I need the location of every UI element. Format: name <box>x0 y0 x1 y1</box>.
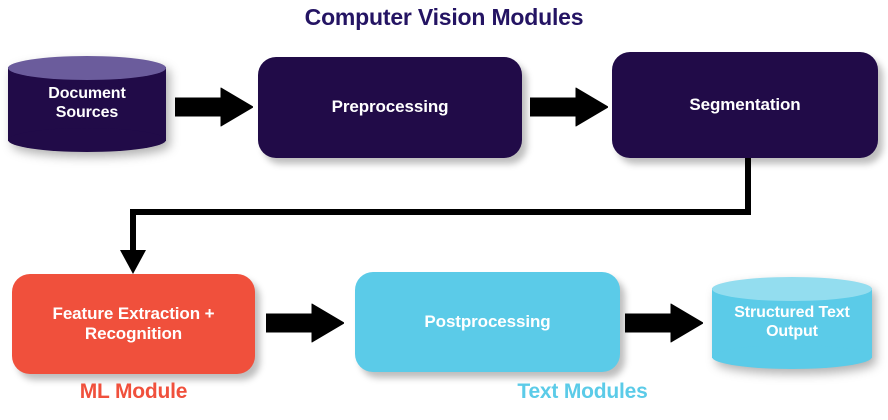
node-feature-extraction-recognition[interactable]: Feature Extraction + Recognition <box>12 274 255 374</box>
node-postprocessing[interactable]: Postprocessing <box>355 272 620 372</box>
node-label-segmentation: Segmentation <box>689 95 800 115</box>
arrow-preprocessing-to-segmentation <box>530 86 608 128</box>
node-label-structured-text-output: Structured Text Output <box>712 304 872 342</box>
node-label-line-2: Recognition <box>85 324 182 343</box>
arrow-postprocessing-to-structured-text-output <box>625 302 703 344</box>
cylinder-top-ellipse <box>8 56 166 80</box>
cylinder-bottom-ellipse <box>8 128 166 152</box>
node-label-feature-extraction: Feature Extraction + Recognition <box>53 304 215 344</box>
diagram-canvas: Computer Vision Modules Document Sources… <box>0 0 888 420</box>
arrow-feature-extraction-to-postprocessing <box>266 302 344 344</box>
node-label-document-sources: Document Sources <box>8 85 166 123</box>
node-label-line-1: Structured Text <box>734 304 850 321</box>
caption-text-modules: Text Modules <box>450 380 715 404</box>
node-document-sources[interactable]: Document Sources <box>8 56 166 152</box>
node-label-preprocessing: Preprocessing <box>332 97 449 117</box>
page-title: Computer Vision Modules <box>0 4 888 31</box>
node-structured-text-output[interactable]: Structured Text Output <box>712 277 872 369</box>
node-label-line-1: Feature Extraction + <box>53 304 215 323</box>
node-label-line-2: Sources <box>56 104 118 121</box>
arrow-document-sources-to-preprocessing <box>175 86 253 128</box>
node-label-postprocessing: Postprocessing <box>424 312 550 332</box>
node-label-line-1: Document <box>48 85 125 102</box>
caption-ml-module: ML Module <box>12 380 255 404</box>
cylinder-bottom-ellipse <box>712 345 872 369</box>
cylinder-top-ellipse <box>712 277 872 301</box>
node-segmentation[interactable]: Segmentation <box>612 52 878 158</box>
node-label-line-2: Output <box>766 323 818 340</box>
node-preprocessing[interactable]: Preprocessing <box>258 57 522 158</box>
